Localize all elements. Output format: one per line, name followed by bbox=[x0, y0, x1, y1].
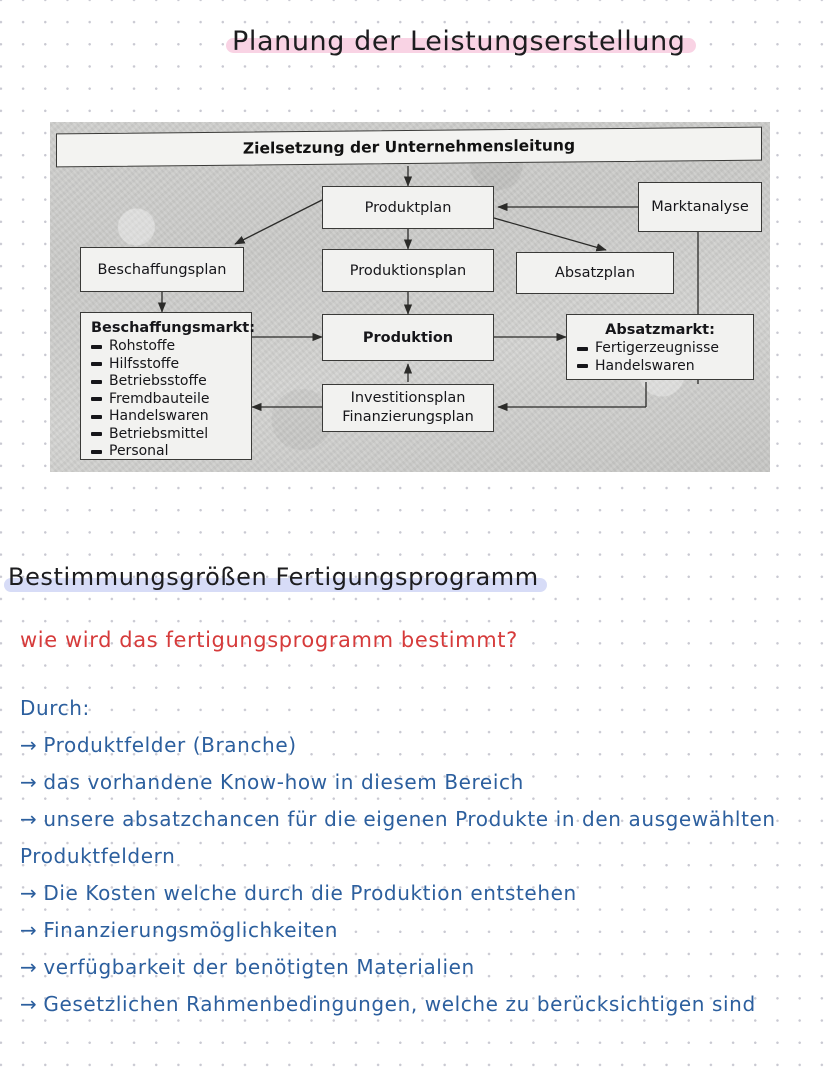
diagram-box-beschaffungsmarkt: Beschaffungsmarkt: Rohstoffe Hilfsstoffe… bbox=[80, 312, 252, 460]
list-item: Rohstoffe bbox=[91, 338, 241, 356]
list-item: Handelswaren bbox=[91, 408, 241, 426]
list-item-label: Rohstoffe bbox=[109, 338, 175, 356]
dash-bullet-icon bbox=[91, 380, 102, 384]
beschaffungsmarkt-title: Beschaffungsmarkt: bbox=[91, 320, 241, 336]
list-item: Fremdbauteile bbox=[91, 391, 241, 409]
box-label: Produktplan bbox=[365, 200, 452, 216]
dash-bullet-icon bbox=[91, 362, 102, 366]
list-item: Betriebsstoffe bbox=[91, 373, 241, 391]
diagram-box-absatzmarkt: Absatzmarkt: Fertigerzeugnisse Handelswa… bbox=[566, 314, 754, 380]
diagram-box-produktionsplan: Produktionsplan bbox=[322, 249, 494, 292]
diagram-box-absatzplan: Absatzplan bbox=[516, 252, 674, 294]
flowchart-diagram: Zielsetzung der Unternehmensleitung bbox=[50, 122, 770, 472]
list-item-label: Hilfsstoffe bbox=[109, 356, 179, 374]
list-item-label: Fertigerzeugnisse bbox=[595, 340, 719, 358]
dash-bullet-icon bbox=[577, 364, 588, 368]
dash-bullet-icon bbox=[577, 347, 588, 351]
absatzmarkt-title: Absatzmarkt: bbox=[577, 322, 743, 338]
diagram-box-marktanalyse: Marktanalyse bbox=[638, 182, 762, 232]
list-item-label: Betriebsmittel bbox=[109, 426, 208, 444]
dash-bullet-icon bbox=[91, 397, 102, 401]
dash-bullet-icon bbox=[91, 345, 102, 349]
box-label: Marktanalyse bbox=[651, 199, 749, 215]
box-label: Produktion bbox=[363, 330, 453, 346]
list-item: Fertigerzeugnisse bbox=[577, 340, 743, 358]
list-item: Personal bbox=[91, 443, 241, 461]
box-label-line2: Finanzierungsplan bbox=[342, 408, 474, 427]
box-label-line1: Investitionsplan bbox=[351, 389, 466, 408]
diagram-box-produktplan: Produktplan bbox=[322, 186, 494, 229]
diagram-box-investitionsplan: Investitionsplan Finanzierungsplan bbox=[322, 384, 494, 432]
dash-bullet-icon bbox=[91, 432, 102, 436]
list-item-label: Betriebsstoffe bbox=[109, 373, 207, 391]
diagram-header-zielsetzung: Zielsetzung der Unternehmensleitung bbox=[56, 127, 762, 168]
list-item: Betriebsmittel bbox=[91, 426, 241, 444]
list-item-label: Fremdbauteile bbox=[109, 391, 209, 409]
list-item: Hilfsstoffe bbox=[91, 356, 241, 374]
list-item-label: Handelswaren bbox=[595, 358, 695, 376]
box-label: Beschaffungsplan bbox=[98, 262, 227, 278]
list-item: Handelswaren bbox=[577, 358, 743, 376]
box-label: Produktionsplan bbox=[350, 263, 466, 279]
list-item-label: Personal bbox=[109, 443, 169, 461]
beschaffungsmarkt-list: Rohstoffe Hilfsstoffe Betriebsstoffe Fre… bbox=[91, 338, 241, 461]
list-item-label: Handelswaren bbox=[109, 408, 209, 426]
dash-bullet-icon bbox=[91, 415, 102, 419]
diagram-box-beschaffungsplan: Beschaffungsplan bbox=[80, 247, 244, 292]
dash-bullet-icon bbox=[91, 450, 102, 454]
diagram-box-produktion: Produktion bbox=[322, 314, 494, 361]
box-label: Absatzplan bbox=[555, 265, 635, 281]
absatzmarkt-list: Fertigerzeugnisse Handelswaren bbox=[577, 340, 743, 375]
